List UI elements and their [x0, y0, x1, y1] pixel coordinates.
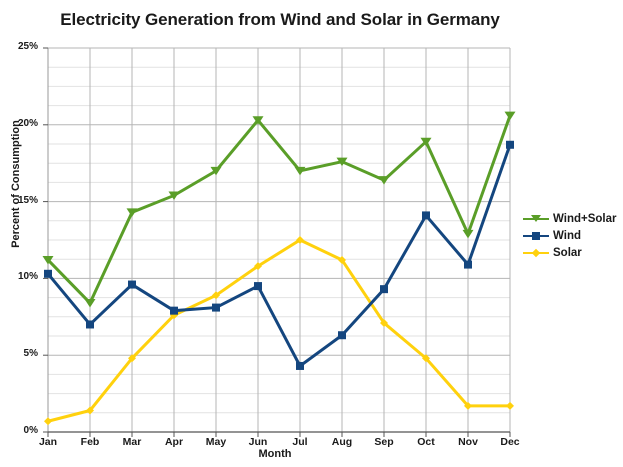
- legend-label: Solar: [553, 247, 582, 259]
- legend-marker-diamond: [532, 248, 540, 256]
- legend-swatch: [523, 246, 549, 260]
- legend-item[interactable]: Wind: [523, 227, 616, 244]
- legend-label: Wind: [553, 230, 581, 242]
- data-point-marker: [338, 331, 346, 339]
- data-point-marker: [380, 285, 388, 293]
- data-point-marker: [422, 211, 430, 219]
- legend-swatch: [523, 229, 549, 243]
- data-point-marker: [44, 270, 52, 278]
- legend-marker-triangle-down: [531, 215, 541, 222]
- chart-legend: Wind+SolarWindSolar: [523, 210, 616, 261]
- legend-item[interactable]: Solar: [523, 244, 616, 261]
- data-point-marker: [464, 261, 472, 269]
- data-point-marker: [506, 141, 514, 149]
- legend-marker-square: [532, 232, 540, 240]
- data-point-marker: [254, 282, 262, 290]
- data-point-marker: [86, 320, 94, 328]
- data-point-marker: [128, 281, 136, 289]
- legend-item[interactable]: Wind+Solar: [523, 210, 616, 227]
- legend-label: Wind+Solar: [553, 213, 616, 225]
- legend-swatch: [523, 212, 549, 226]
- data-point-marker: [170, 307, 178, 315]
- chart-container: Electricity Generation from Wind and Sol…: [0, 0, 623, 467]
- data-point-marker: [296, 362, 304, 370]
- data-point-marker: [212, 304, 220, 312]
